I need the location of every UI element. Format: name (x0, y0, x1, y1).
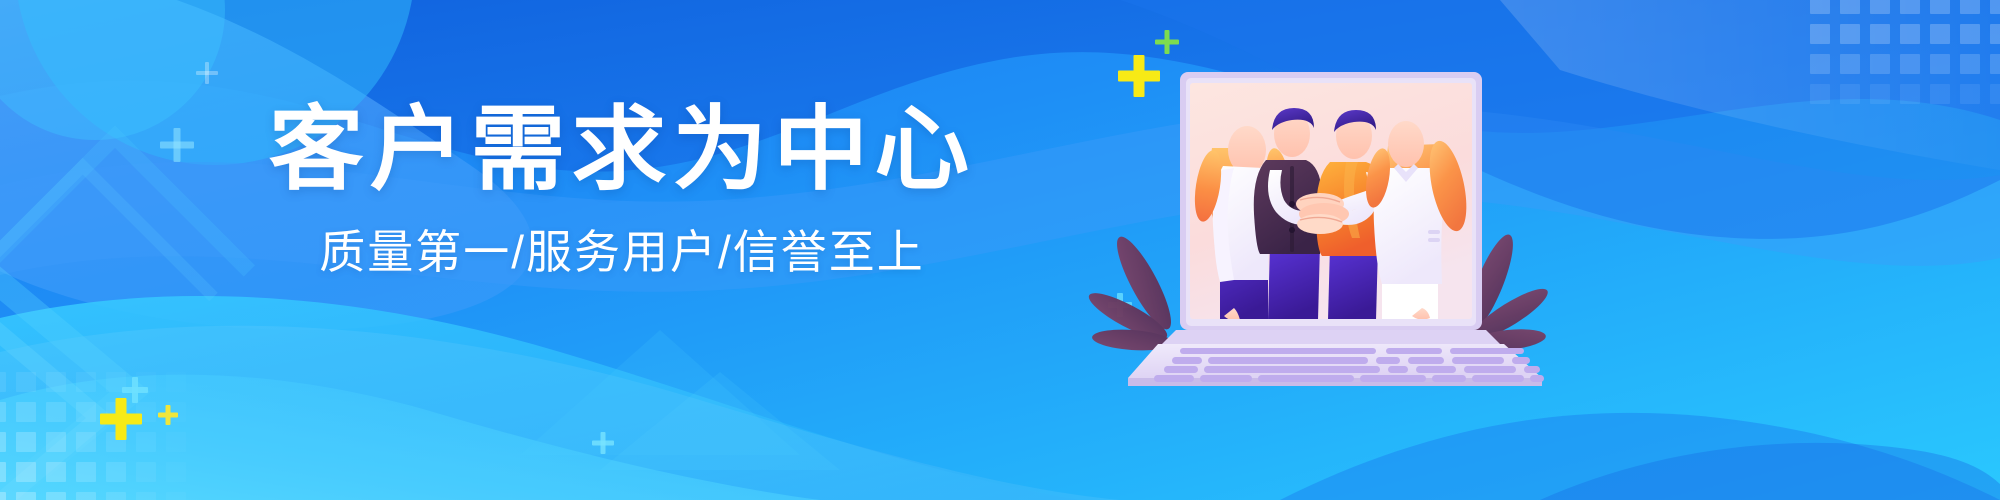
page-title: 客户需求为中心 (241, 104, 1003, 198)
grid-bottom-left (0, 372, 186, 500)
laptop-hinge (1160, 330, 1502, 346)
plus-yellow-large-icon (100, 398, 142, 440)
plus-cyan-mid-icon (592, 432, 614, 454)
page-subtitle: 质量第一/服务用户/信誉至上 (252, 228, 992, 276)
stacked-hands (1296, 193, 1349, 234)
plus-yellow-tiny-icon (158, 405, 178, 425)
laptop-keyboard (1128, 344, 1544, 386)
plus-cyan-small-icon (160, 128, 194, 162)
plus-green-laptop-icon (1155, 30, 1179, 54)
grid-top-right (1810, 0, 2000, 104)
headline-block: 客户需求为中心 质量第一/服务用户/信誉至上 (252, 104, 992, 276)
promo-banner: 客户需求为中心 质量第一/服务用户/信誉至上 (0, 0, 2000, 500)
plus-white-faint-icon (196, 62, 218, 84)
laptop-svg (1150, 58, 1630, 388)
laptop-teamwork-illustration (1150, 58, 1630, 388)
